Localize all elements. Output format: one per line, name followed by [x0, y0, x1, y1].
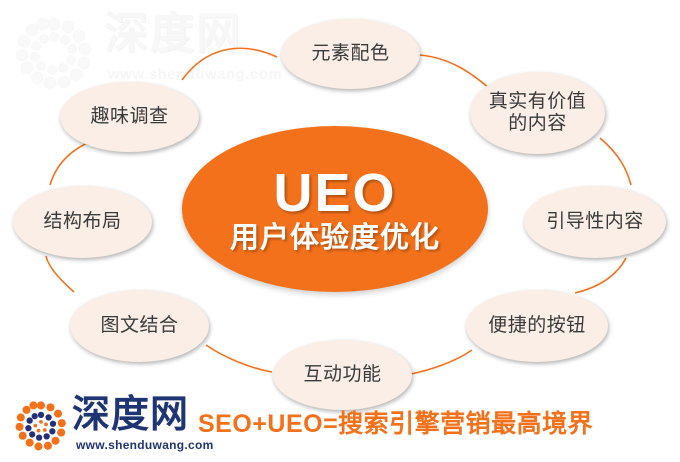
bubble-label: 结构布局 — [43, 211, 121, 233]
link-element-color-to-valuable-content — [420, 55, 489, 88]
link-fun-survey-to-element-color — [182, 48, 277, 80]
bubble-element-color: 元素配色 — [281, 19, 420, 89]
bubble-label: 引导性内容 — [546, 211, 644, 233]
bubble-label: 真实有价值的内容 — [489, 91, 587, 136]
core-subtitle: 用户体验度优化 — [230, 224, 440, 253]
footer-tagline: SEO+UEO=搜索引擎营销最高境界 — [198, 404, 593, 440]
link-guiding-content-to-handy-buttons — [575, 258, 626, 293]
bubble-fun-survey: 趣味调查 — [60, 82, 199, 152]
bubble-handy-buttons: 便捷的按钮 — [466, 290, 608, 362]
watermark-logo-icon — [8, 6, 100, 98]
footer-url: www.shenduwang.com — [76, 438, 214, 452]
bubble-text-image-mix: 图文结合 — [70, 290, 209, 362]
bubble-label: 图文结合 — [100, 315, 178, 337]
footer: 深度网 www.shenduwang.com SEO+UEO=搜索引擎营销最高境… — [0, 392, 680, 462]
bubble-label: 元素配色 — [311, 43, 389, 65]
link-valuable-content-to-guiding-content — [600, 138, 631, 185]
footer-brand: 深度网 — [72, 396, 189, 434]
footer-logo-icon — [12, 396, 70, 454]
bubble-structure-layout: 结构布局 — [13, 186, 152, 258]
watermark-url: www.shenduwang.com — [108, 66, 282, 83]
watermark-brand: 深度网 — [104, 12, 242, 56]
link-interactive-to-text-image-mix — [206, 345, 272, 372]
core-ellipse: UEO 用户体验度优化 — [182, 126, 488, 292]
bubble-guiding-content: 引导性内容 — [524, 186, 666, 258]
link-handy-buttons-to-interactive — [411, 350, 472, 374]
bubble-label: 趣味调查 — [90, 106, 168, 128]
bubble-valuable-content: 真实有价值的内容 — [470, 72, 605, 154]
bubble-label: 互动功能 — [303, 364, 381, 386]
link-text-image-mix-to-structure-layout — [46, 256, 74, 292]
infographic-canvas: 深度网 www.shenduwang.com UEO 用户体验度优化 元素配色真… — [0, 0, 680, 462]
bubble-label: 便捷的按钮 — [488, 315, 586, 337]
link-structure-layout-to-fun-survey — [50, 141, 92, 185]
core-title: UEO — [273, 166, 396, 220]
